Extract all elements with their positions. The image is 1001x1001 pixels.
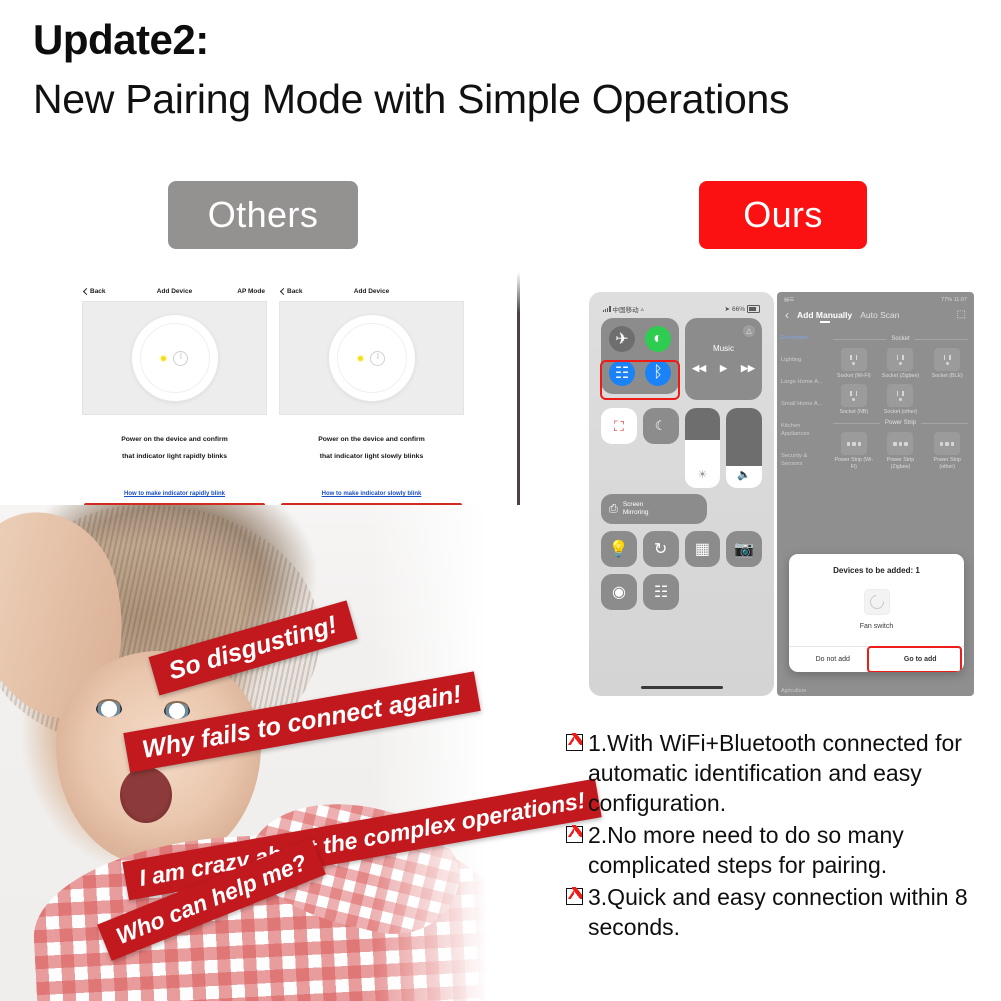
devices-found-dialog: Devices to be added: 1 Fan switch Do not… xyxy=(789,554,964,672)
power-strip-icon xyxy=(887,432,913,455)
section-title: Power Strip xyxy=(885,420,916,426)
checkmark-icon xyxy=(566,734,583,751)
screen-mirroring-button[interactable]: ⎙ Screen Mirroring xyxy=(601,494,707,524)
tab-auto-scan[interactable]: Auto Scan xyxy=(860,310,899,320)
app-status-right: 77% 11:07 xyxy=(941,297,967,303)
product-label: Socket (NB) xyxy=(833,409,875,416)
ap-mode-button[interactable]: AP Mode xyxy=(237,288,265,295)
feature-item-3: 3.Quick and easy connection within 8 sec… xyxy=(566,882,994,942)
feature-text: 2.No more need to do so many complicated… xyxy=(588,820,994,880)
sidebar-item-agriculture[interactable]: Agriculture xyxy=(781,688,806,694)
app-nav-bar: Back Add Device xyxy=(275,283,468,299)
frustrated-user-photo xyxy=(0,505,520,1001)
rotation-lock-button[interactable]: ⛶ xyxy=(601,408,637,444)
headline-line-1: Update2: xyxy=(33,16,993,64)
socket-icon xyxy=(934,348,960,371)
product-power-strip-other[interactable]: Power Strip (other) xyxy=(926,432,968,471)
product-socket-other[interactable]: Socket (other) xyxy=(880,384,922,416)
app-battery-percent: 77% xyxy=(941,297,952,303)
moon-icon: ☾ xyxy=(655,418,667,434)
section-title: Socket xyxy=(891,336,909,342)
power-icon xyxy=(370,351,385,366)
badge-others-label: Others xyxy=(208,194,318,236)
photo-eye-right xyxy=(164,703,190,719)
wifi-bluetooth-highlight xyxy=(600,360,680,400)
badge-ours: Ours xyxy=(699,181,867,249)
scan-icon[interactable]: ⬚ xyxy=(957,309,966,320)
instruction-line-2: that indicator light slowly blinks xyxy=(275,448,468,465)
music-widget[interactable]: △ Music ◀◀ ▶ ▶▶ xyxy=(685,318,762,400)
checkmark-icon xyxy=(566,826,583,843)
product-label: Socket (Wi-Fi) xyxy=(833,373,875,380)
feature-text: 1.With WiFi+Bluetooth connected for auto… xyxy=(588,728,994,818)
sidebar-item-security-sensors[interactable]: Security & Sensors xyxy=(781,452,827,468)
page-title: Update2: New Pairing Mode with Simple Op… xyxy=(33,16,993,124)
power-strip-icon xyxy=(934,432,960,455)
screen-mirroring-label: Screen Mirroring xyxy=(623,501,649,517)
device-illustration xyxy=(82,301,267,415)
product-label: Power Strip (Zigbee) xyxy=(880,457,922,471)
instruction-line-1: Power on the device and confirm xyxy=(275,431,468,448)
do-not-add-button[interactable]: Do not add xyxy=(789,647,877,672)
device-thumbnail xyxy=(864,589,890,615)
help-link[interactable]: How to make indicator slowly blink xyxy=(275,491,468,497)
music-controls: ◀◀ ▶ ▶▶ xyxy=(692,363,755,374)
section-header-power-strip: Power Strip xyxy=(833,420,968,426)
photo-mouth xyxy=(120,767,172,823)
calculator-button[interactable]: ▦ xyxy=(685,531,721,567)
product-label: Socket (BLE) xyxy=(926,373,968,380)
product-label: Power Strip (Wi-Fi) xyxy=(833,457,875,471)
power-icon xyxy=(173,351,188,366)
power-strip-icon xyxy=(841,432,867,455)
dialog-actions: Do not add Go to add xyxy=(789,646,964,672)
status-bar-left: 中国移动 ▵ xyxy=(603,304,644,314)
socket-icon xyxy=(887,384,913,407)
qr-scanner-icon: ☷ xyxy=(654,582,668,602)
wifi-status-icon: ▵ xyxy=(641,305,644,313)
music-label: Music xyxy=(713,344,734,353)
promo-page: Update2: New Pairing Mode with Simple Op… xyxy=(0,0,1001,1001)
ios-control-center: 中国移动 ▵ ➤ 66% ✈ ◐ ☷ ᛒ △ xyxy=(589,292,774,696)
battery-percent: 66% xyxy=(732,306,745,313)
instruction-text: Power on the device and confirm that ind… xyxy=(275,431,468,465)
screen-record-button[interactable]: ◉ xyxy=(601,574,637,610)
product-socket-zigbee[interactable]: Socket (Zigbee) xyxy=(880,348,922,380)
flashlight-icon: 💡 xyxy=(609,539,629,559)
instruction-line-2: that indicator light rapidly blinks xyxy=(78,448,271,465)
device-illustration xyxy=(279,301,464,415)
indicator-led-icon xyxy=(358,356,363,361)
fan-switch-icon xyxy=(867,592,887,612)
control-center-top-row: ✈ ◐ ☷ ᛒ △ Music ◀◀ ▶ ▶▶ xyxy=(589,318,774,400)
battery-icon xyxy=(747,305,760,313)
feature-item-1: 1.With WiFi+Bluetooth connected for auto… xyxy=(566,728,994,818)
badge-others: Others xyxy=(168,181,358,249)
instruction-text: Power on the device and confirm that ind… xyxy=(78,431,271,465)
headline-line-2: New Pairing Mode with Simple Operations xyxy=(33,74,993,124)
status-bar: 中国移动 ▵ ➤ 66% xyxy=(589,292,774,318)
control-center-fourth-row: ◉ ☷ xyxy=(589,567,774,610)
camera-icon: 📷 xyxy=(734,539,754,559)
brightness-slider[interactable]: ☀ xyxy=(685,408,721,488)
record-icon: ◉ xyxy=(612,582,626,602)
round-switch-device xyxy=(132,315,218,401)
previous-track-icon[interactable]: ◀◀ xyxy=(692,363,706,374)
screen-title: Add Device xyxy=(275,288,468,295)
badge-ours-label: Ours xyxy=(743,194,823,236)
home-indicator xyxy=(641,686,723,689)
screen-mirroring-icon: ⎙ xyxy=(609,505,618,513)
go-to-add-highlight xyxy=(867,646,962,672)
photo-fade-overlay xyxy=(370,505,520,1001)
signal-icon xyxy=(603,306,611,312)
play-icon[interactable]: ▶ xyxy=(720,363,727,374)
airplane-mode-icon[interactable]: ✈ xyxy=(609,326,635,352)
instruction-line-1: Power on the device and confirm xyxy=(78,431,271,448)
power-strip-products: Power Strip (Wi-Fi) Power Strip (Zigbee)… xyxy=(833,432,968,471)
sidebar-item-large-home-appliances[interactable]: Large Home A... xyxy=(781,378,827,386)
location-icon: ➤ xyxy=(725,305,730,313)
airplay-icon[interactable]: △ xyxy=(743,325,755,337)
volume-fill xyxy=(726,408,762,466)
device-name: Fan switch xyxy=(789,623,964,630)
product-power-strip-zigbee[interactable]: Power Strip (Zigbee) xyxy=(880,432,922,471)
feature-list: 1.With WiFi+Bluetooth connected for auto… xyxy=(566,728,994,944)
app-nav-bar: Back Add Device AP Mode xyxy=(78,283,271,299)
help-link[interactable]: How to make indicator rapidly blink xyxy=(78,491,271,497)
do-not-disturb-button[interactable]: ☾ xyxy=(643,408,679,444)
smart-app-add-device-screen: ▤☰ 77% 11:07 ‹ Add Manually Auto Scan ⬚ … xyxy=(777,292,974,696)
rotation-lock-icon: ⛶ xyxy=(614,418,624,435)
product-socket-nb[interactable]: Socket (NB) xyxy=(833,384,875,416)
sidebar-item-lighting[interactable]: Lighting xyxy=(781,356,827,364)
control-center-second-row: ⛶ ☾ ☀ 🔈 xyxy=(589,400,774,488)
brightness-icon: ☀ xyxy=(697,468,707,481)
socket-icon xyxy=(841,348,867,371)
app-nav-bar: ‹ Add Manually Auto Scan ⬚ xyxy=(777,305,974,328)
checkmark-icon xyxy=(566,888,583,905)
socket-products: Socket (Wi-Fi) Socket (Zigbee) Socket (B… xyxy=(833,348,968,416)
volume-icon: 🔈 xyxy=(737,468,751,481)
brightness-fill xyxy=(685,408,721,440)
dialog-title: Devices to be added: 1 xyxy=(789,554,964,585)
calculator-icon: ▦ xyxy=(695,539,710,559)
sidebar-item-small-home-appliances[interactable]: Small Home A... xyxy=(781,400,827,408)
section-header-socket: Socket xyxy=(833,336,968,342)
feature-text: 3.Quick and easy connection within 8 sec… xyxy=(588,882,994,942)
feature-item-2: 2.No more need to do so many complicated… xyxy=(566,820,994,880)
control-center-third-row: 💡 ↻ ▦ 📷 xyxy=(589,524,774,567)
product-label: Power Strip (other) xyxy=(926,457,968,471)
volume-slider[interactable]: 🔈 xyxy=(726,408,762,488)
qr-scanner-button[interactable]: ☷ xyxy=(643,574,679,610)
app-status-bar: ▤☰ 77% 11:07 xyxy=(777,292,974,305)
indicator-led-icon xyxy=(161,356,166,361)
sidebar-item-kitchen-appliances[interactable]: Kitchen Appliances xyxy=(781,422,827,438)
timer-button[interactable]: ↻ xyxy=(643,531,679,567)
product-socket-wifi[interactable]: Socket (Wi-Fi) xyxy=(833,348,875,380)
next-track-icon[interactable]: ▶▶ xyxy=(741,363,755,374)
socket-icon xyxy=(887,348,913,371)
timer-icon: ↻ xyxy=(654,539,667,559)
camera-button[interactable]: 📷 xyxy=(726,531,762,567)
flashlight-button[interactable]: 💡 xyxy=(601,531,637,567)
status-bar-right: ➤ 66% xyxy=(725,305,760,313)
airdrop-icon[interactable]: ◐ xyxy=(645,326,671,352)
socket-icon xyxy=(841,384,867,407)
product-label: Socket (other) xyxy=(880,409,922,416)
product-power-strip-wifi[interactable]: Power Strip (Wi-Fi) xyxy=(833,432,875,471)
app-status-left: ▤☰ xyxy=(784,297,794,303)
photo-eye-left xyxy=(96,701,122,717)
back-button[interactable]: ‹ xyxy=(785,310,789,320)
product-label: Socket (Zigbee) xyxy=(880,373,922,380)
tab-add-manually[interactable]: Add Manually xyxy=(797,310,852,320)
product-socket-ble[interactable]: Socket (BLE) xyxy=(926,348,968,380)
carrier-label: 中国移动 xyxy=(613,304,639,314)
sidebar-item-electrician[interactable]: Electrician xyxy=(781,334,827,342)
app-clock: 11:07 xyxy=(954,297,967,303)
round-switch-device xyxy=(329,315,415,401)
